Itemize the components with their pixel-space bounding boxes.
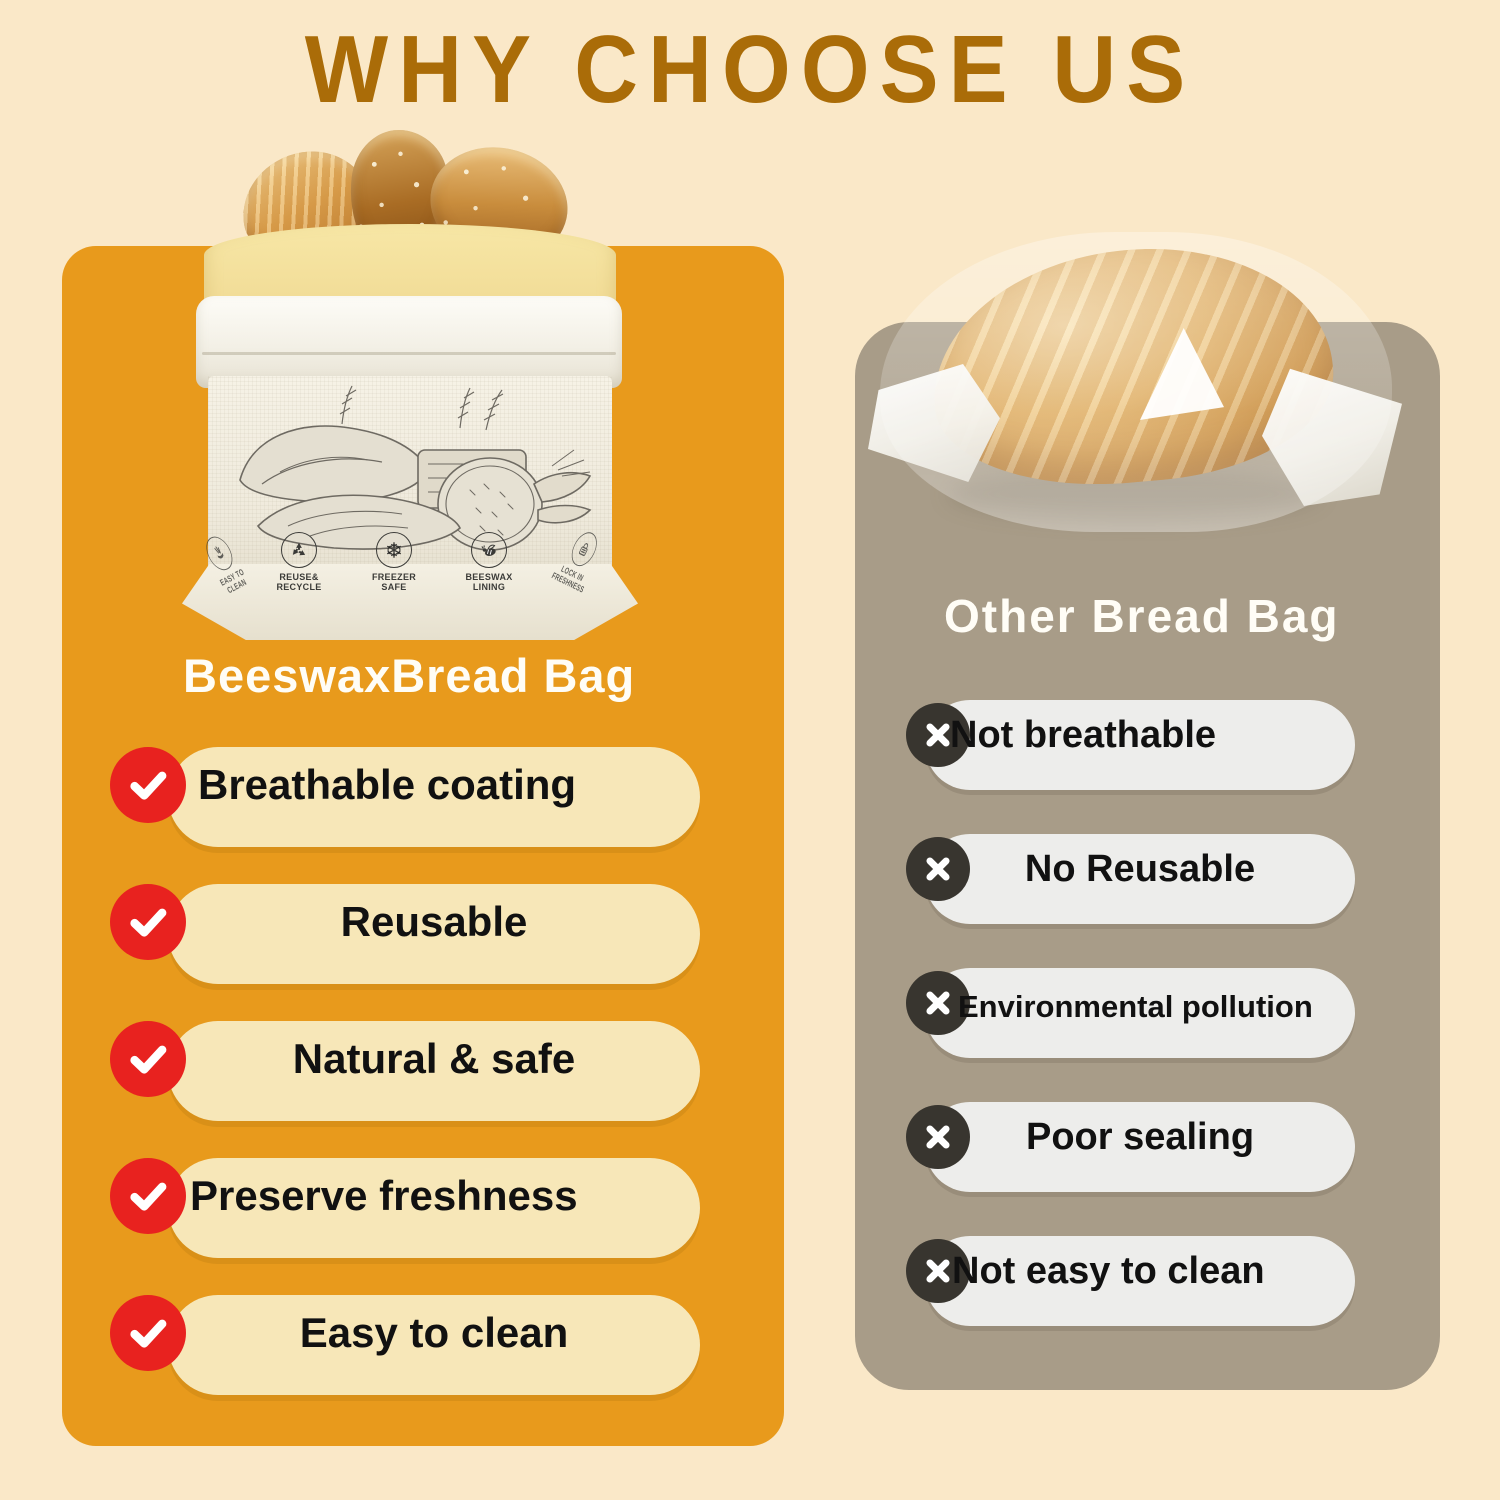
drawback-row-environmental-pollution[interactable]: Environmental pollution — [0, 958, 1440, 1068]
stamp-label-line1: FREEZER — [357, 572, 431, 582]
clear-plastic-film — [880, 232, 1392, 532]
snowflake-icon — [376, 532, 412, 568]
stamp-lock-in-freshness: LOCK IN FRESHNESS — [546, 523, 612, 596]
drawback-label: Poor sealing — [925, 1114, 1355, 1160]
stamp-label-line2: LINING — [452, 582, 526, 592]
stamp-label-line1: REUSE& — [262, 572, 336, 582]
stamp-beeswax-lining: BEESWAX LINING — [452, 532, 526, 592]
drawback-row-poor-sealing[interactable]: Poor sealing — [0, 1092, 1440, 1202]
drawback-label: No Reusable — [925, 846, 1355, 892]
bee-icon — [471, 532, 507, 568]
beeswax-bread-bag-photo: EASY TO CLEAN REUSE& RECYCLE — [178, 128, 640, 640]
hand-wash-icon — [201, 532, 238, 574]
recycle-icon — [281, 532, 317, 568]
right-panel-heading: Other Bread Bag — [944, 588, 1340, 644]
drawback-label: Environmental pollution — [958, 984, 1355, 1030]
stamp-label-line2: RECYCLE — [262, 582, 336, 592]
page-title: WHY CHOOSE US — [60, 18, 1440, 122]
bag-printed-stamps: EASY TO CLEAN REUSE& RECYCLE — [212, 528, 612, 628]
drawback-row-no-reusable[interactable]: No Reusable — [0, 824, 1440, 934]
drawback-label: Not easy to clean — [952, 1248, 1355, 1294]
drawback-label: Not breathable — [950, 712, 1355, 758]
bread-lock-icon — [567, 528, 602, 570]
stamp-label-line2: SAFE — [357, 582, 431, 592]
stamp-reuse-recycle: REUSE& RECYCLE — [262, 532, 336, 592]
plastic-wrapped-loaf-photo — [862, 232, 1402, 542]
drawback-row-not-breathable[interactable]: Not breathable — [0, 690, 1440, 800]
stamp-label-line1: BEESWAX — [452, 572, 526, 582]
bag-folded-cuff — [196, 296, 622, 388]
stamp-freezer-safe: FREEZER SAFE — [357, 532, 431, 592]
drawback-row-not-easy-to-clean[interactable]: Not easy to clean — [0, 1226, 1440, 1336]
